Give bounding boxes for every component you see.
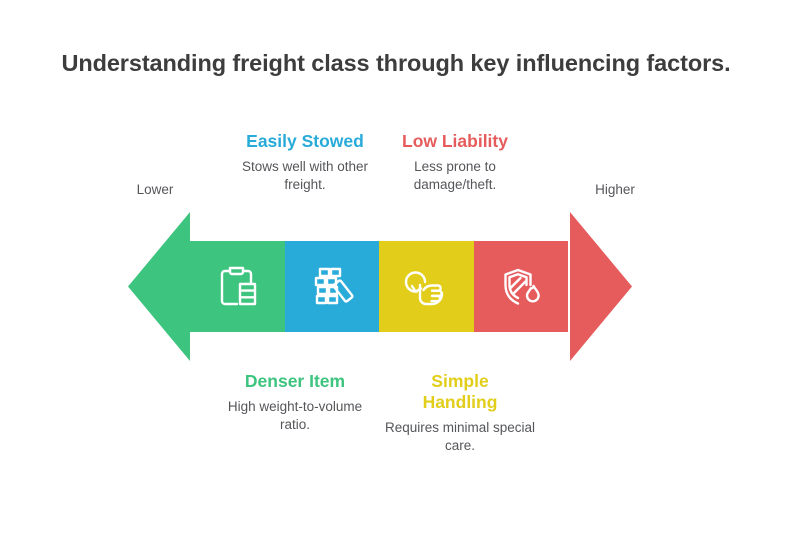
factor-tile-easily-stowed[interactable] xyxy=(285,241,380,332)
callout-heading: Denser Item xyxy=(215,371,375,392)
factor-tile-low-liability[interactable] xyxy=(474,241,569,332)
page-title: Understanding freight class through key … xyxy=(0,50,792,77)
callout-description: Stows well with other freight. xyxy=(225,158,385,194)
factor-tile-simple-handling[interactable] xyxy=(379,241,474,332)
scale-label-lower: Lower xyxy=(110,182,200,197)
callout-easily-stowed: Easily Stowed Stows well with other frei… xyxy=(225,131,385,194)
callout-simple-handling: Simple Handling Requires minimal special… xyxy=(380,371,540,455)
freight-class-scale-arrow xyxy=(128,212,632,361)
callout-description: High weight-to-volume ratio. xyxy=(215,398,375,434)
callout-low-liability: Low Liability Less prone to damage/theft… xyxy=(375,131,535,194)
scale-label-higher: Higher xyxy=(570,182,660,197)
clipboard-boxes-icon xyxy=(210,260,264,314)
callout-heading: Simple Handling xyxy=(413,371,508,413)
shield-flame-icon xyxy=(494,260,548,314)
callout-heading: Low Liability xyxy=(375,131,535,152)
callout-denser-item: Denser Item High weight-to-volume ratio. xyxy=(215,371,375,434)
callout-description: Requires minimal special care. xyxy=(380,419,540,455)
arrow-left-icon xyxy=(128,212,190,361)
arrow-right-icon xyxy=(570,212,632,361)
stacked-bricks-icon xyxy=(305,260,359,314)
hand-gesture-icon xyxy=(399,260,453,314)
callout-heading: Easily Stowed xyxy=(225,131,385,152)
callout-description: Less prone to damage/theft. xyxy=(375,158,535,194)
factor-tile-denser-item[interactable] xyxy=(190,241,285,332)
factor-tiles xyxy=(190,241,568,332)
